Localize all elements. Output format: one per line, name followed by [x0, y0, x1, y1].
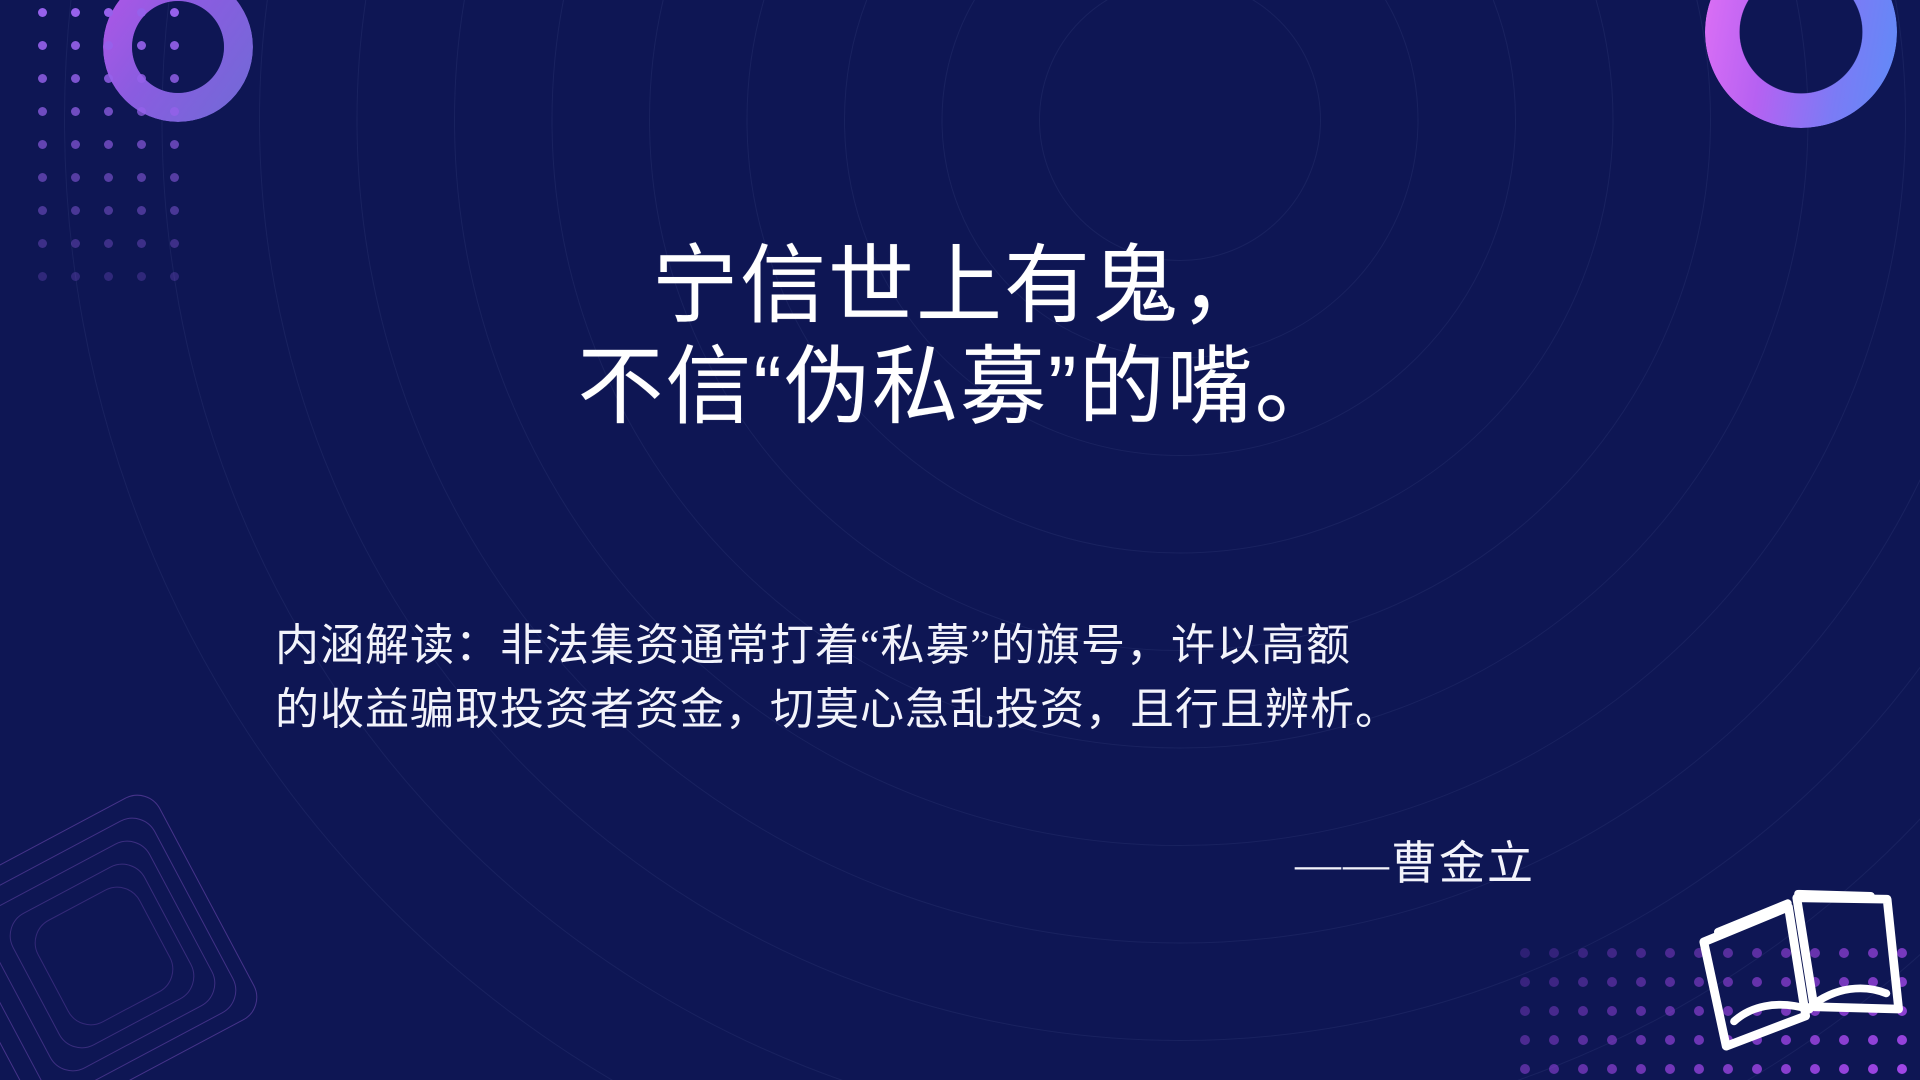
slide-content: 宁信世上有鬼， 不信“伪私募”的嘴。 内涵解读：非法集资通常打着“私募”的旗号，…: [0, 0, 1920, 1080]
paragraph-line-1: 内涵解读：非法集资通常打着“私募”的旗号，许以高额: [275, 614, 1675, 678]
headline-line-2: 不信“伪私募”的嘴。: [0, 337, 1920, 438]
page-title: 宁信世上有鬼， 不信“伪私募”的嘴。: [0, 236, 1920, 439]
attribution-text: ——曹金立: [275, 827, 1535, 893]
explanation-paragraph: 内涵解读：非法集资通常打着“私募”的旗号，许以高额 的收益骗取投资者资金，切莫心…: [275, 614, 1675, 742]
headline-line-1: 宁信世上有鬼，: [0, 236, 1920, 337]
slide-canvas: 宁信世上有鬼， 不信“伪私募”的嘴。 内涵解读：非法集资通常打着“私募”的旗号，…: [0, 0, 1920, 1080]
paragraph-line-2: 的收益骗取投资者资金，切莫心急乱投资，且行且辨析。: [275, 678, 1675, 742]
